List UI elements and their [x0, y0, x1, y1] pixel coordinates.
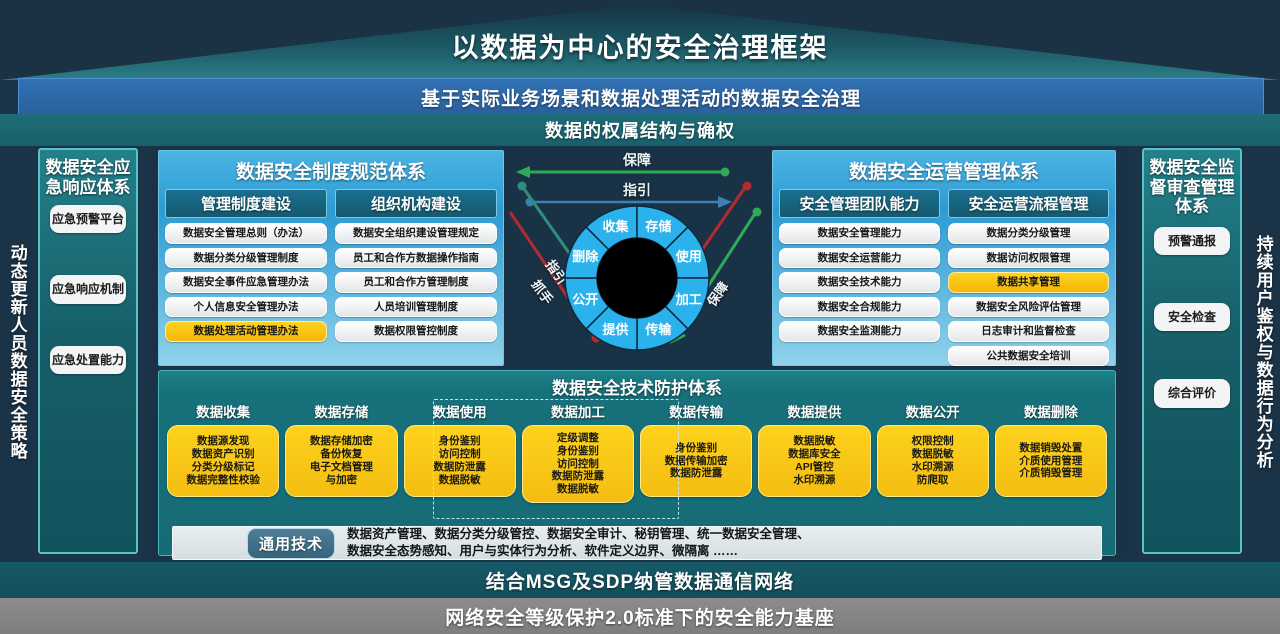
ops-system-card[interactable]: 数据安全运营管理体系 安全管理团队能力 数据安全管理能力 数据安全运营能力 数据…: [772, 150, 1116, 366]
left-vertical-caption: 动态更新人员数据安全策略: [2, 146, 32, 558]
common-technology-line1: 数据资产管理、数据分类分级管控、数据安全审计、秘钥管理、统一数据安全管理、: [347, 526, 810, 543]
data-lifecycle-block: 保障 指引 指引 抓手 抓手 保障: [508, 150, 766, 366]
policy-column-organization: 组织机构建设 数据安全组织建设管理规定 员工和合作方数据操作指南 员工和合作方管…: [335, 189, 497, 346]
ops-col1-item-2[interactable]: 数据安全运营能力: [779, 248, 940, 269]
donut-segment-label: 使用: [675, 249, 702, 264]
tech-item: 数据库安全: [761, 448, 867, 461]
donut-segment-label: 提供: [603, 322, 629, 337]
supervision-panel[interactable]: 数据安全监督审查管理体系 预警通报 安全检查 综合评价: [1142, 148, 1242, 554]
tech-item: 数据防泄露: [643, 467, 749, 480]
tech-cell-processing[interactable]: 数据加工 定级调整 身份鉴别 访问控制 数据防泄露 数据脱敏: [522, 401, 634, 503]
policy-col2-head: 组织机构建设: [335, 189, 497, 218]
tech-cell-transmission[interactable]: 数据传输 身份鉴别 数据传输加密 数据防泄露: [640, 401, 752, 503]
tech-item: 与加密: [288, 474, 394, 487]
ops-col1-head: 安全管理团队能力: [779, 189, 940, 218]
ops-column-process: 安全运营流程管理 数据分类分级管理 数据访问权限管理 数据共享管理 数据安全风险…: [948, 189, 1109, 370]
donut-segment-label: 收集: [603, 219, 630, 234]
supervision-item-2[interactable]: 安全检查: [1154, 303, 1230, 331]
supervision-panel-title: 数据安全监督审查管理体系: [1144, 158, 1240, 217]
tech-system-title: 数据安全技术防护体系: [159, 371, 1115, 401]
ops-col1-item-3[interactable]: 数据安全技术能力: [779, 272, 940, 293]
policy-col1-item-3[interactable]: 数据安全事件应急管理办法: [165, 272, 327, 293]
tech-item: 数据脱敏: [880, 448, 986, 461]
ops-col2-item-6[interactable]: 公共数据安全培训: [948, 346, 1109, 367]
tech-cell-collect[interactable]: 数据收集 数据源发现 数据资产识别 分类分级标记 数据完整性校验: [167, 401, 279, 503]
tech-item: 备份恢复: [288, 448, 394, 461]
right-vertical-caption: 持续用户鉴权与数据行为分析: [1248, 146, 1278, 558]
tech-cell-use[interactable]: 数据使用 身份鉴别 访问控制 数据防泄露 数据脱敏: [404, 401, 516, 503]
data-lifecycle-donut[interactable]: 收集存储使用加工传输提供公开删除: [561, 202, 713, 359]
policy-col1-head: 管理制度建设: [165, 189, 327, 218]
policy-col2-item-2[interactable]: 员工和合作方数据操作指南: [335, 248, 497, 269]
ops-col1-item-1[interactable]: 数据安全管理能力: [779, 223, 940, 244]
donut-hub: [597, 238, 677, 318]
tech-item: 数据防泄露: [525, 470, 631, 483]
subtitle-band-teal: 数据的权属结构与确权: [0, 114, 1280, 146]
emergency-response-panel[interactable]: 数据安全应急响应体系 应急预警平台 应急响应机制 应急处置能力: [38, 148, 138, 554]
policy-system-title: 数据安全制度规范体系: [165, 157, 497, 184]
footer-band-network: 结合MSG及SDP纳管数据通信网络: [0, 562, 1280, 598]
policy-col1-item-5-highlighted[interactable]: 数据处理活动管理办法: [165, 321, 327, 342]
tech-cell-disclosure[interactable]: 数据公开 权限控制 数据脱敏 水印溯源 防爬取: [877, 401, 989, 503]
tech-item: API管控: [761, 461, 867, 474]
policy-col1-item-2[interactable]: 数据分类分级管理制度: [165, 248, 327, 269]
tech-cell-provision[interactable]: 数据提供 数据脱敏 数据库安全 API管控 水印溯源: [758, 401, 870, 503]
tech-item: 水印溯源: [761, 474, 867, 487]
framework-diagram: 以数据为中心的安全治理框架 基于实际业务场景和数据处理活动的数据安全治理 数据的…: [0, 0, 1280, 634]
policy-col2-item-1[interactable]: 数据安全组织建设管理规定: [335, 223, 497, 244]
tech-cell-deletion-head: 数据删除: [1024, 401, 1078, 421]
donut-segment-label: 删除: [572, 249, 599, 264]
tech-cell-collect-head: 数据收集: [196, 401, 250, 421]
tech-item: 身份鉴别: [643, 442, 749, 455]
tech-cell-storage[interactable]: 数据存储 数据存储加密 备份恢复 电子文档管理 与加密: [285, 401, 397, 503]
common-technology-strip: 通用技术 数据资产管理、数据分类分级管控、数据安全审计、秘钥管理、统一数据安全管…: [172, 526, 1102, 560]
tech-cell-provision-head: 数据提供: [787, 401, 841, 421]
policy-system-card[interactable]: 数据安全制度规范体系 管理制度建设 数据安全管理总则（办法） 数据分类分级管理制…: [158, 150, 504, 366]
ops-col1-item-5[interactable]: 数据安全监测能力: [779, 321, 940, 342]
tech-item: 数据防泄露: [407, 461, 513, 474]
tech-item: 电子文档管理: [288, 461, 394, 474]
tech-item: 数据完整性校验: [170, 474, 276, 487]
ops-column-team: 安全管理团队能力 数据安全管理能力 数据安全运营能力 数据安全技术能力 数据安全…: [779, 189, 940, 370]
tech-item: 数据脱敏: [407, 474, 513, 487]
donut-segment-label: 加工: [675, 292, 702, 307]
tech-item: 身份鉴别: [407, 435, 513, 448]
tech-item: 数据脱敏: [761, 435, 867, 448]
tech-item: 权限控制: [880, 435, 986, 448]
tech-item: 身份鉴别: [525, 445, 631, 458]
emergency-item-2[interactable]: 应急响应机制: [50, 275, 126, 303]
tech-item: 数据存储加密: [288, 435, 394, 448]
tech-item: 分类分级标记: [170, 461, 276, 474]
donut-segment-label: 公开: [572, 292, 598, 307]
ops-col2-item-5[interactable]: 日志审计和监督检查: [948, 321, 1109, 342]
tech-cell-transmission-body: 身份鉴别 数据传输加密 数据防泄露: [640, 425, 752, 497]
emergency-item-3[interactable]: 应急处置能力: [50, 346, 126, 374]
policy-col2-item-4[interactable]: 人员培训管理制度: [335, 297, 497, 318]
ops-col2-item-3-highlighted[interactable]: 数据共享管理: [948, 272, 1109, 293]
ops-col1-item-4[interactable]: 数据安全合规能力: [779, 297, 940, 318]
ops-col2-item-4[interactable]: 数据安全风险评估管理: [948, 297, 1109, 318]
tech-item: 防爬取: [880, 474, 986, 487]
tech-item: 访问控制: [407, 448, 513, 461]
tech-item: 定级调整: [525, 432, 631, 445]
page-title: 以数据为中心的安全治理框架: [0, 26, 1280, 65]
donut-segment-label: 传输: [644, 322, 672, 337]
policy-col2-item-5[interactable]: 数据权限管控制度: [335, 321, 497, 342]
tech-cell-transmission-head: 数据传输: [669, 401, 723, 421]
tech-item: 数据销毁处置: [998, 442, 1104, 455]
common-technology-text: 数据资产管理、数据分类分级管控、数据安全审计、秘钥管理、统一数据安全管理、 数据…: [347, 526, 810, 560]
tech-cell-processing-body: 定级调整 身份鉴别 访问控制 数据防泄露 数据脱敏: [522, 425, 634, 503]
common-technology-line2: 数据安全态势感知、用户与实体行为分析、软件定义边界、微隔离 ……: [347, 543, 810, 560]
policy-col1-item-1[interactable]: 数据安全管理总则（办法）: [165, 223, 327, 244]
tech-item: 介质销毁管理: [998, 467, 1104, 480]
tech-cell-use-head: 数据使用: [433, 401, 487, 421]
ops-col2-item-2[interactable]: 数据访问权限管理: [948, 248, 1109, 269]
policy-col2-item-3[interactable]: 员工和合作方管理制度: [335, 272, 497, 293]
ops-col2-head: 安全运营流程管理: [948, 189, 1109, 218]
tech-cell-disclosure-body: 权限控制 数据脱敏 水印溯源 防爬取: [877, 425, 989, 497]
tech-cell-collect-body: 数据源发现 数据资产识别 分类分级标记 数据完整性校验: [167, 425, 279, 497]
tech-cell-processing-head: 数据加工: [551, 401, 605, 421]
emergency-panel-title: 数据安全应急响应体系: [40, 158, 136, 197]
tech-item: 水印溯源: [880, 461, 986, 474]
tech-cell-deletion[interactable]: 数据删除 数据销毁处置 介质使用管理 介质销毁管理: [995, 401, 1107, 503]
tech-cell-provision-body: 数据脱敏 数据库安全 API管控 水印溯源: [758, 425, 870, 497]
tech-item: 访问控制: [525, 458, 631, 471]
tech-item: 数据资产识别: [170, 448, 276, 461]
tech-cells-row: 数据收集 数据源发现 数据资产识别 分类分级标记 数据完整性校验 数据存储 数据…: [159, 401, 1115, 503]
tech-cell-disclosure-head: 数据公开: [906, 401, 960, 421]
tech-item: 数据脱敏: [525, 483, 631, 496]
policy-column-management: 管理制度建设 数据安全管理总则（办法） 数据分类分级管理制度 数据安全事件应急管…: [165, 189, 327, 346]
tech-item: 数据传输加密: [643, 455, 749, 468]
common-technology-tag: 通用技术: [247, 528, 335, 559]
tech-cell-deletion-body: 数据销毁处置 介质使用管理 介质销毁管理: [995, 425, 1107, 497]
emergency-item-1[interactable]: 应急预警平台: [50, 205, 126, 233]
tech-item: 数据源发现: [170, 435, 276, 448]
supervision-item-3[interactable]: 综合评价: [1154, 379, 1230, 407]
footer-band-baseline: 网络安全等级保护2.0标准下的安全能力基座: [0, 598, 1280, 634]
policy-col1-item-4[interactable]: 个人信息安全管理办法: [165, 297, 327, 318]
tech-cell-storage-body: 数据存储加密 备份恢复 电子文档管理 与加密: [285, 425, 397, 497]
donut-segment-label: 存储: [645, 219, 671, 234]
tech-item: 介质使用管理: [998, 455, 1104, 468]
subtitle-band-blue: 基于实际业务场景和数据处理活动的数据安全治理: [18, 78, 1264, 116]
tech-cell-use-body: 身份鉴别 访问控制 数据防泄露 数据脱敏: [404, 425, 516, 497]
supervision-item-1[interactable]: 预警通报: [1154, 227, 1230, 255]
ops-col2-item-1[interactable]: 数据分类分级管理: [948, 223, 1109, 244]
ops-system-title: 数据安全运营管理体系: [779, 157, 1109, 184]
tech-cell-storage-head: 数据存储: [314, 401, 368, 421]
